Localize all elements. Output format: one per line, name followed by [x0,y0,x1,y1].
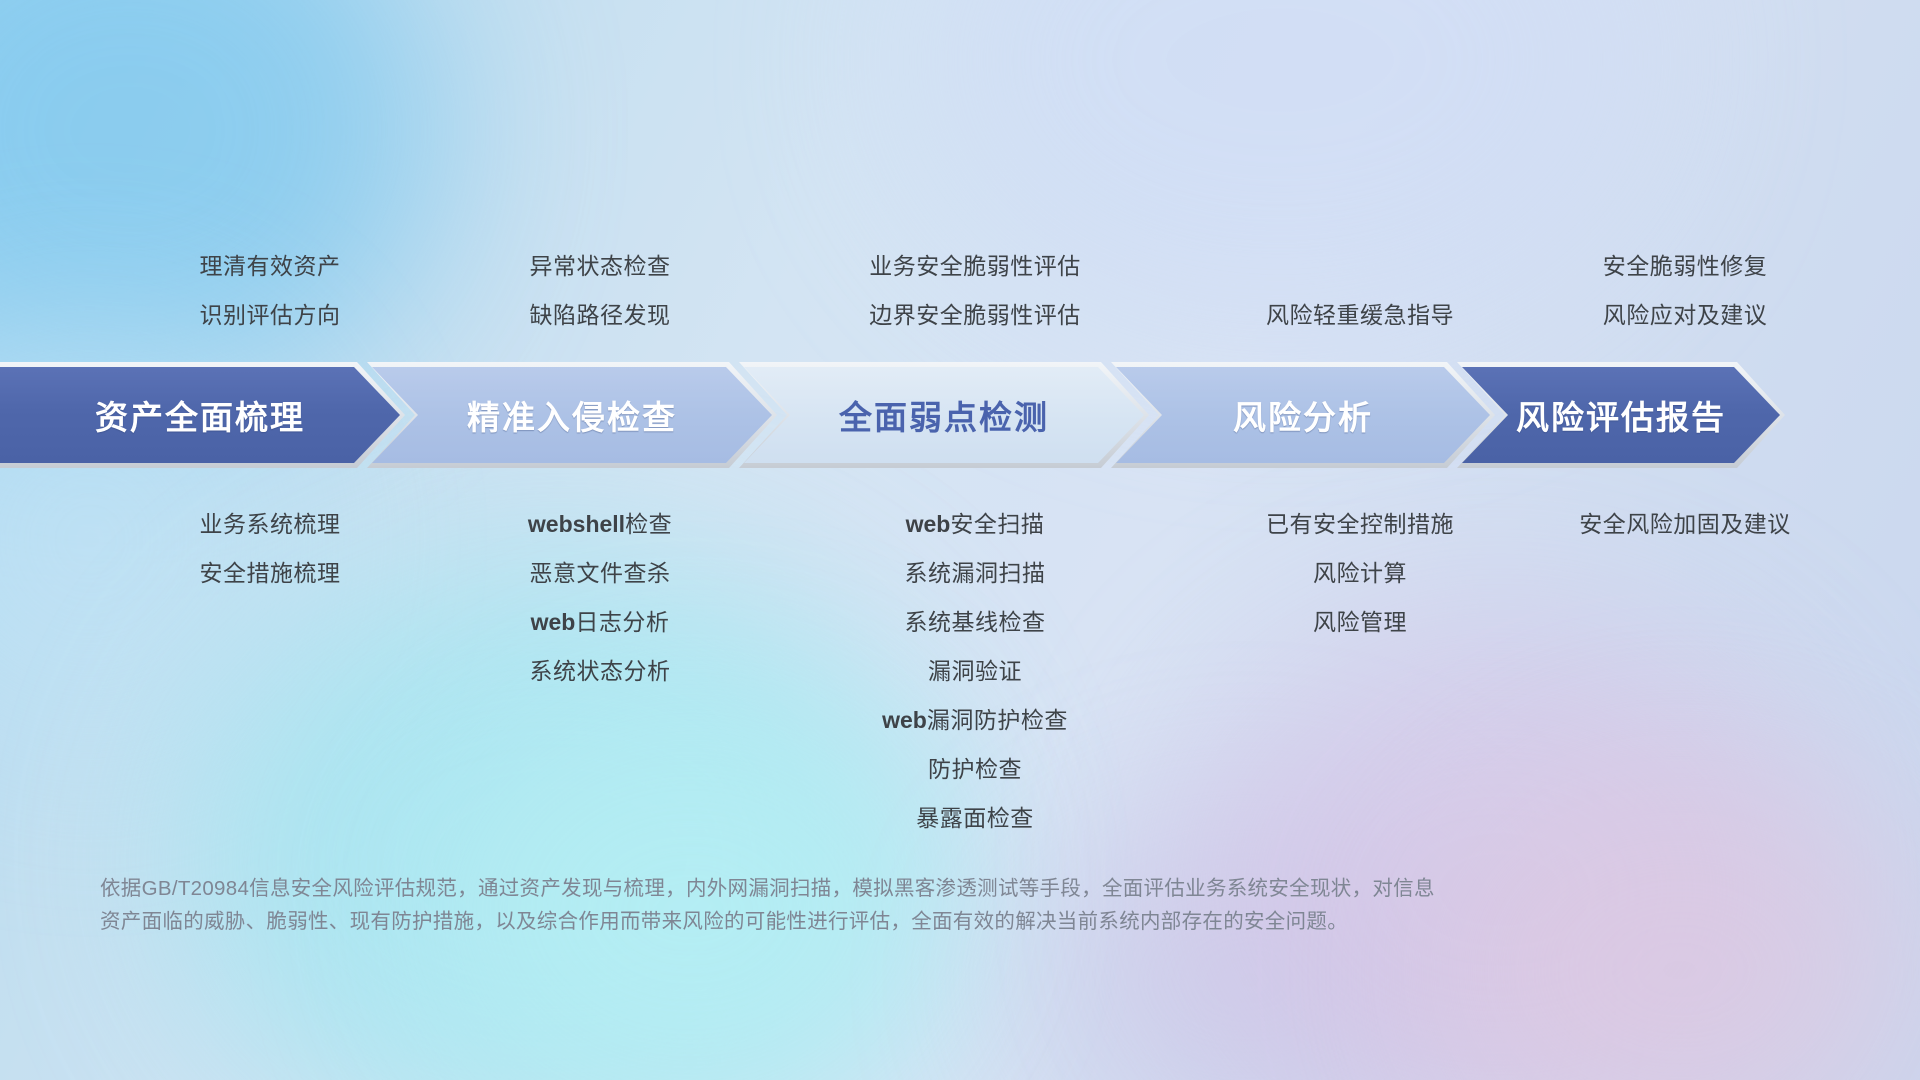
bottom-item-list: 业务系统梳理安全措施梳理 [80,500,460,598]
top-item-list: 风险轻重缓急指导 [1165,291,1555,340]
stage-bottom-item: 业务系统梳理 [80,500,460,549]
footer-line-2: 资产面临的威胁、脆弱性、现有防护措施，以及综合作用而带来风险的可能性进行评估，全… [100,905,1640,938]
chevron-label: 风险评估报告 [1516,391,1726,439]
stage-bottom-item: 已有安全控制措施 [1165,500,1555,549]
chevron-label: 精准入侵检查 [467,391,677,439]
stage-top-item: 安全脆弱性修复 [1510,242,1860,291]
stage-top-item: 异常状态检查 [410,242,790,291]
chevron-stage-2[interactable]: 精准入侵检查 [372,367,772,463]
chevron-stage-3[interactable]: 全面弱点检测 [744,367,1144,463]
stage-bottom-item: 恶意文件查杀 [410,549,790,598]
stage-bottom-item: web安全扫描 [765,500,1185,549]
chevron-stage-5[interactable]: 风险评估报告 [1462,367,1780,463]
stage-top-item: 业务安全脆弱性评估 [765,242,1185,291]
stage-bottom-item: web漏洞防护检查 [765,696,1185,745]
bottom-item-list: web安全扫描系统漏洞扫描系统基线检查漏洞验证web漏洞防护检查防护检查暴露面检… [765,500,1185,843]
stage-top-item: 风险应对及建议 [1510,291,1860,340]
top-item-list: 安全脆弱性修复风险应对及建议 [1510,242,1860,340]
stage-bottom-item: 风险管理 [1165,598,1555,647]
stage-bottom-item: web日志分析 [410,598,790,647]
footer-description: 依据GB/T20984信息安全风险评估规范，通过资产发现与梳理，内外网漏洞扫描，… [100,872,1640,938]
stage-top-item: 理清有效资产 [80,242,460,291]
stage-bottom-item: 风险计算 [1165,549,1555,598]
top-item-list: 业务安全脆弱性评估边界安全脆弱性评估 [765,242,1185,340]
chevron-label: 全面弱点检测 [839,391,1049,439]
chevron-stage-1[interactable]: 资产全面梳理 [0,367,400,463]
stage-top-item: 边界安全脆弱性评估 [765,291,1185,340]
bottom-item-list: webshell检查恶意文件查杀web日志分析系统状态分析 [410,500,790,696]
top-item-list: 理清有效资产识别评估方向 [80,242,460,340]
footer-line-1: 依据GB/T20984信息安全风险评估规范，通过资产发现与梳理，内外网漏洞扫描，… [100,872,1640,905]
bottom-item-list: 安全风险加固及建议 [1510,500,1860,549]
bottom-item-list: 已有安全控制措施风险计算风险管理 [1165,500,1555,647]
stage-bottom-item: 系统漏洞扫描 [765,549,1185,598]
stage-bottom-item: 安全措施梳理 [80,549,460,598]
stage-top-item: 缺陷路径发现 [410,291,790,340]
stage-top-item: 识别评估方向 [80,291,460,340]
stage-top-item: 风险轻重缓急指导 [1165,291,1555,340]
stage-bottom-item: 暴露面检查 [765,794,1185,843]
chevron-label: 风险分析 [1233,391,1373,439]
top-item-list: 异常状态检查缺陷路径发现 [410,242,790,340]
chevron-label: 资产全面梳理 [95,391,305,439]
infographic-canvas: 资产全面梳理 精准入侵检查 全面弱点检测 风险分析 风险评估报告 理清有效资产识… [0,0,1920,1080]
process-chevron-band: 资产全面梳理 精准入侵检查 全面弱点检测 风险分析 风险评估报告 [0,367,1780,463]
chevron-stage-4[interactable]: 风险分析 [1116,367,1490,463]
stage-bottom-item: webshell检查 [410,500,790,549]
stage-bottom-item: 漏洞验证 [765,647,1185,696]
stage-bottom-item: 系统状态分析 [410,647,790,696]
stage-bottom-item: 防护检查 [765,745,1185,794]
stage-bottom-item: 安全风险加固及建议 [1510,500,1860,549]
stage-bottom-item: 系统基线检查 [765,598,1185,647]
